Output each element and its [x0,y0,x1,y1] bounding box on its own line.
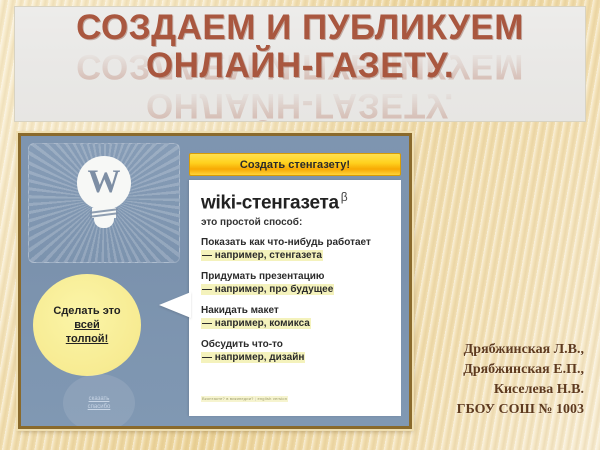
callout-arrow-icon [159,292,191,318]
lightbulb-glass: W [77,156,131,210]
sunburst-panel: W [28,143,180,263]
lightbulb-icon: W [77,156,131,228]
thanks-bubble-line-1: сказать [88,395,111,403]
footer-right-link[interactable]: english version [257,396,287,401]
list-item-example: — например, про будущее [201,283,391,297]
screenshot-inner: W Сделать это всей толпой! сказать сп [21,136,409,426]
footer-separator: | [255,396,256,401]
crowd-bubble[interactable]: Сделать это всей толпой! [33,274,141,376]
footer-left-link[interactable]: Вконтакте? в википедии? [202,396,254,401]
lightbulb-base [94,218,114,228]
list-item-example-text: — например, про будущее [201,284,334,295]
brand-heading: wiki-стенгазетаβ [201,190,391,214]
list-item-example-text: — например, стенгазета [201,250,323,261]
list-item-example: — например, стенгазета [201,249,391,263]
lightbulb-neck [92,208,116,218]
content-panel: wiki-стенгазетаβ это простой способ: Пок… [189,180,401,416]
create-wallpaper-button[interactable]: Создать стенгазету! [189,153,401,176]
brand-heading-text: wiki-стенгазета [201,192,339,213]
brand-subheading: это простой способ: [201,217,391,228]
title-line-1: СОЗДАЕМ И ПУБЛИКУЕМ [15,9,585,47]
list-item-main: Придумать презентацию [201,270,391,283]
title-line-2: ОНЛАЙН-ГАЗЕТУ. [15,47,585,85]
credit-line-1: Дрябжинская Л.В., [384,340,584,360]
credits-block: Дрябжинская Л.В., Дрябжинская Е.П., Кисе… [384,340,584,420]
list-item-main: Накидать макет [201,304,391,317]
panel-footer: Вконтакте? в википедии? | english versio… [201,396,288,402]
list-item-example-text: — например, комикса [201,318,311,329]
list-item-example: — например, дизайн [201,351,391,365]
thanks-bubble-text: сказать спасибо [88,395,111,411]
title-text-block: СОЗДАЕМ И ПУБЛИКУЕМ ОНЛАЙН-ГАЗЕТУ. [15,9,585,85]
title-reflection-2: ОНЛАЙН-ГАЗЕТУ. [15,86,585,122]
thanks-bubble[interactable]: сказать спасибо [63,374,135,426]
list-item-main: Обсудить что-то [201,338,391,351]
credit-line-4: ГБОУ СОШ № 1003 [384,400,584,420]
beta-badge: β [341,190,348,204]
crowd-bubble-line-1: Сделать это [53,304,120,318]
list-item: Обсудить что-то — например, дизайн [201,338,391,365]
screenshot-image: W Сделать это всей толпой! сказать сп [18,133,412,429]
list-item-example: — например, комикса [201,317,391,331]
crowd-bubble-line-3: толпой! [66,333,108,345]
content-panel-body: wiki-стенгазетаβ это простой способ: Пок… [189,180,401,365]
title-panel: СОЗДАЕМ И ПУБЛИКУЕМ ОНЛАЙН-ГАЗЕТУ. СОЗДА… [14,6,586,122]
thanks-bubble-line-2: спасибо [88,403,111,411]
list-item-example-text: — например, дизайн [201,352,305,363]
crowd-bubble-line-2: всей [74,319,100,331]
credit-line-2: Дрябжинская Е.П., [384,360,584,380]
list-item: Показать как что-нибудь работает — напри… [201,236,391,263]
crowd-bubble-text: Сделать это всей толпой! [53,304,120,346]
list-item: Накидать макет — например, комикса [201,304,391,331]
credit-line-3: Киселева Н.В. [384,380,584,400]
list-item-main: Показать как что-нибудь работает [201,236,391,249]
slide-canvas: СОЗДАЕМ И ПУБЛИКУЕМ ОНЛАЙН-ГАЗЕТУ. СОЗДА… [0,0,600,450]
list-item: Придумать презентацию — например, про бу… [201,270,391,297]
logo-letter: W [88,166,121,199]
